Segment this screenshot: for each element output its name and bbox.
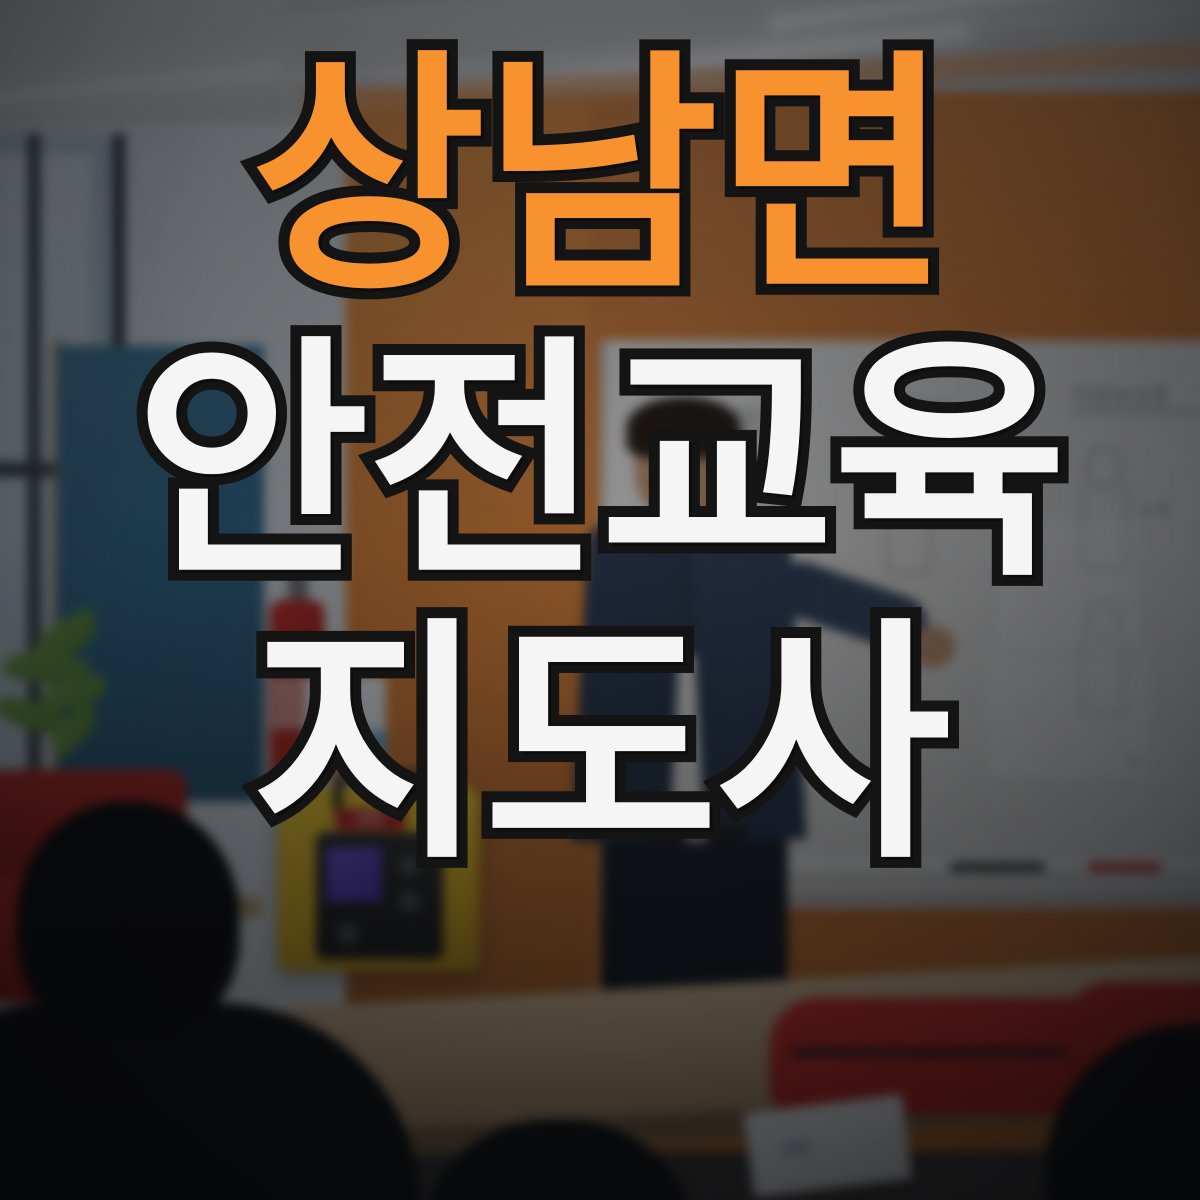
headline-block: 상남면 안전교육 지도사	[0, 0, 1200, 1200]
headline-line-3: 지도사	[251, 616, 949, 876]
poster-canvas: 중어된학 침원식 직장보상존 노동 노약 보상 비	[0, 0, 1200, 1200]
headline-line-1: 상남면	[251, 48, 949, 308]
headline-line-2: 안전교육	[135, 334, 1065, 594]
